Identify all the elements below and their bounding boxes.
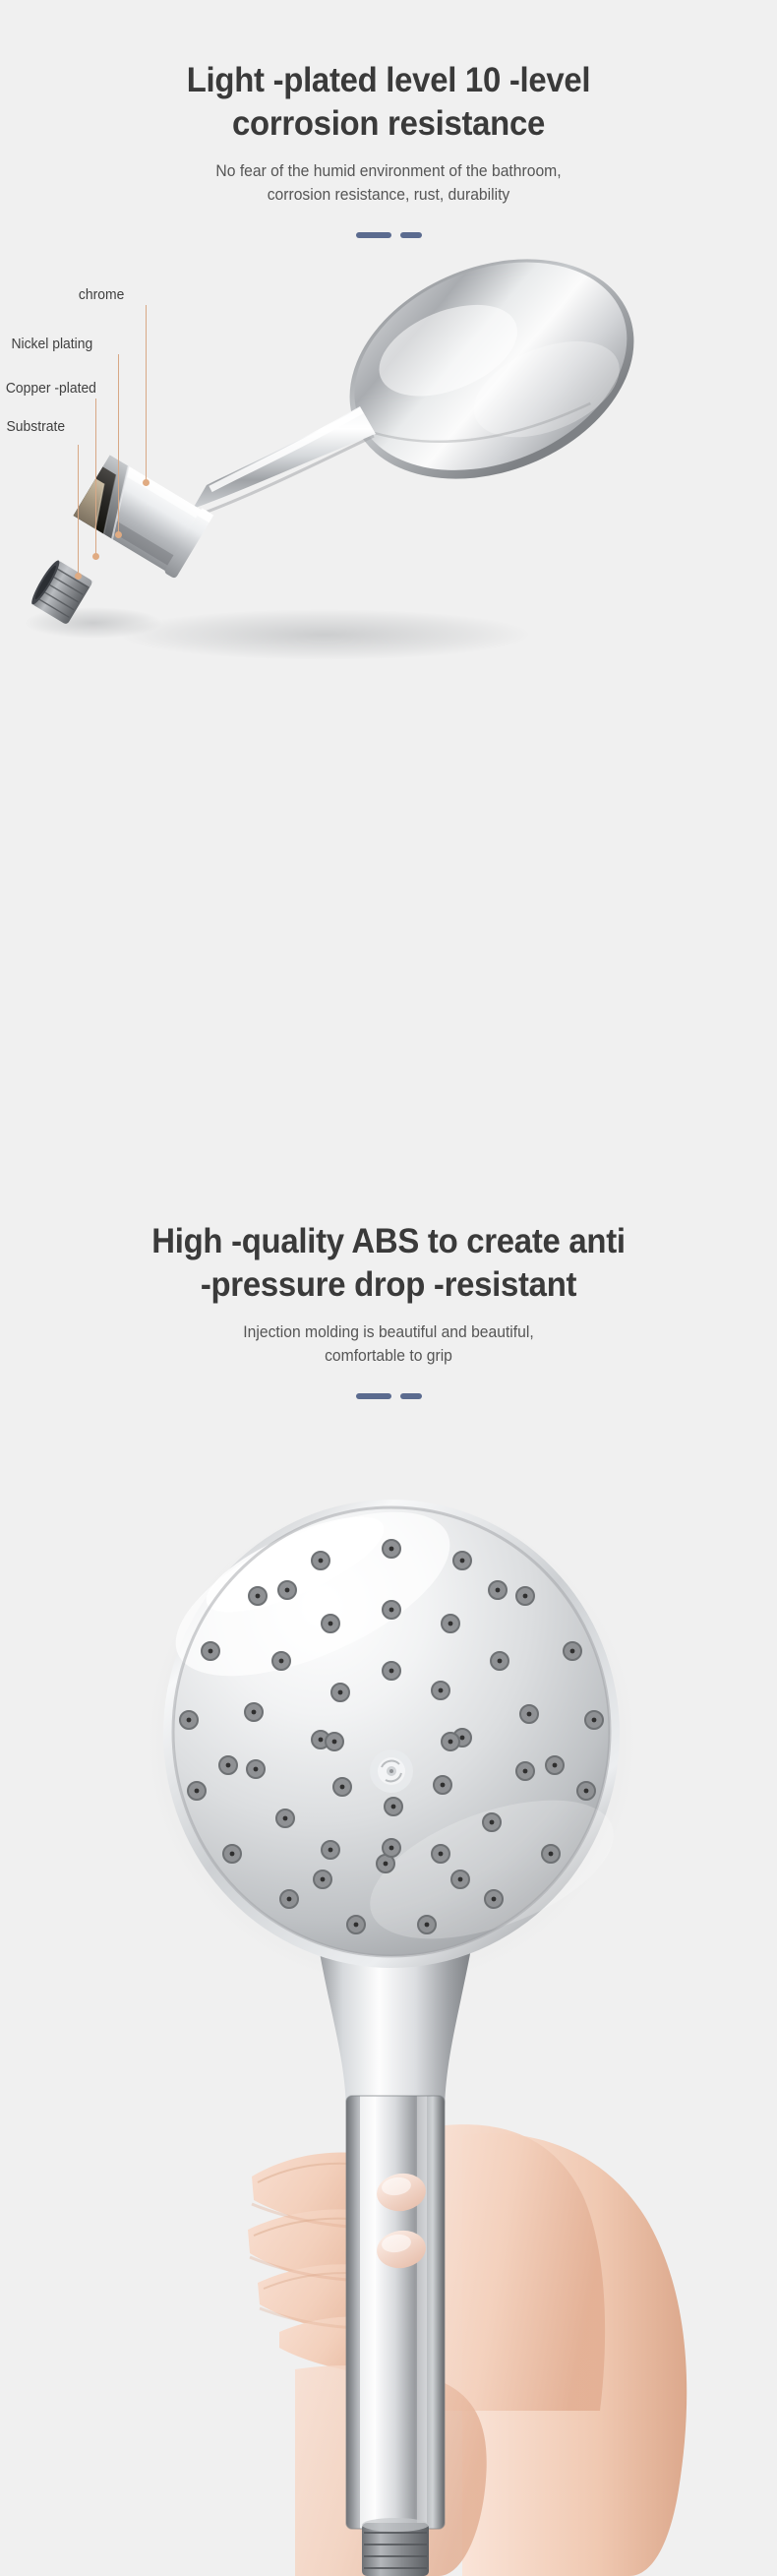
leader-line-substrate: [78, 445, 79, 576]
section-abs-headline: High -quality ABS to create anti -pressu…: [24, 1220, 754, 1307]
headline-line-2: -pressure drop -resistant: [24, 1263, 754, 1307]
headline-line-1: High -quality ABS to create anti: [24, 1220, 754, 1263]
divider-dash-long: [356, 1393, 391, 1399]
subhead-line-2: comfortable to grip: [20, 1344, 758, 1368]
hand-holding-shower-head-image: [0, 1446, 777, 2576]
leader-dot-substrate: [75, 573, 82, 580]
threaded-connector: [362, 2518, 429, 2576]
subhead-line-1: No fear of the humid environment of the …: [20, 159, 758, 183]
subhead-line-2: corrosion resistance, rust, durability: [20, 183, 758, 207]
divider-dash-long: [356, 232, 391, 238]
subhead-line-1: Injection molding is beautiful and beaut…: [20, 1320, 758, 1344]
annotation-nickel-plating: Nickel plating: [11, 337, 92, 352]
handle-stem: [346, 2096, 445, 2529]
leader-dot-copper: [92, 553, 99, 560]
divider-dashes: [0, 1393, 777, 1399]
leader-line-copper: [95, 399, 96, 556]
headline-line-2: corrosion resistance: [24, 102, 754, 146]
divider-dash-short: [400, 232, 422, 238]
product-detail-page: Light -plated level 10 -level corrosion …: [0, 0, 777, 2576]
section-abs-subhead: Injection molding is beautiful and beaut…: [20, 1320, 758, 1368]
leader-dot-chrome: [143, 479, 149, 486]
leader-line-nickel: [118, 354, 119, 534]
leader-line-chrome: [146, 305, 147, 482]
section-corrosion-headline: Light -plated level 10 -level corrosion …: [24, 59, 754, 146]
leader-dot-nickel: [115, 531, 122, 538]
center-outlet: [370, 1749, 413, 1793]
divider-dashes: [0, 232, 777, 238]
section-abs-header: High -quality ABS to create anti -pressu…: [0, 1220, 777, 1399]
divider-dash-short: [400, 1393, 422, 1399]
section-corrosion-header: Light -plated level 10 -level corrosion …: [0, 59, 777, 238]
section-corrosion-subhead: No fear of the humid environment of the …: [20, 159, 758, 207]
annotation-copper-plated: Copper -plated: [6, 381, 96, 397]
annotation-chrome: chrome: [79, 287, 124, 303]
annotation-substrate: Substrate: [6, 419, 65, 435]
shower-head-cutaway-image: [0, 251, 777, 674]
headline-line-1: Light -plated level 10 -level: [24, 59, 754, 102]
hand: [248, 2124, 687, 2576]
